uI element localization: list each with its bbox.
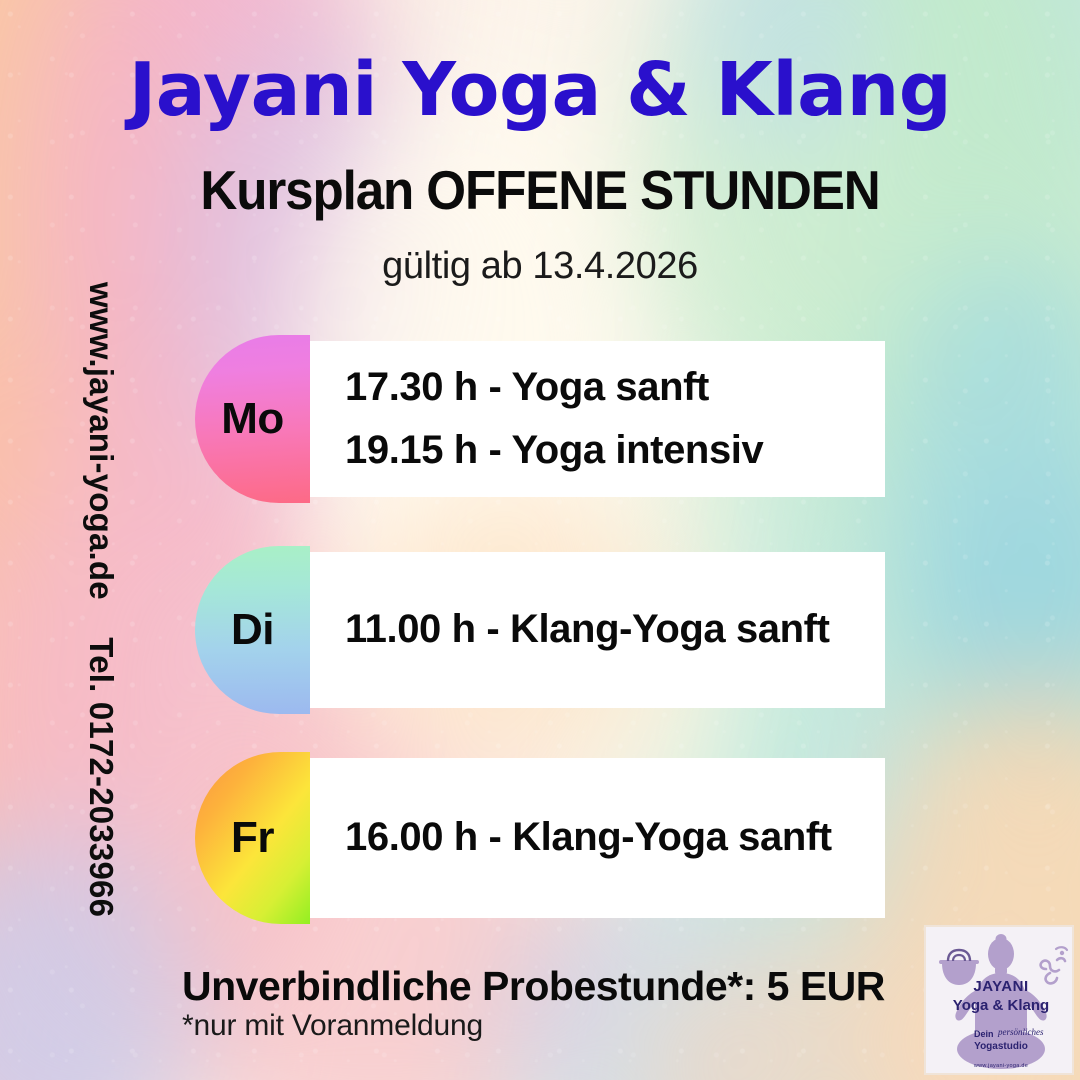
class-slot: 11.00 h - Klang-Yoga sanft [345,598,885,661]
schedule-row-di: 11.00 h - Klang-Yoga sanft Di [195,546,310,714]
logo-slogan-2: Yogastudio [974,1041,1028,1052]
day-label: Di [231,608,274,652]
website-vertical-text: www.jayani-yoga.de Tel. 0172-2033966 [82,282,120,917]
logo-url: www.jayani-yoga.de [973,1063,1028,1069]
poster-subtitle: Kursplan OFFENE STUNDEN [38,163,1042,218]
schedule-card-di: 11.00 h - Klang-Yoga sanft [305,552,885,708]
logo-slogan-1: Dein [974,1029,994,1039]
logo-artwork: JAYANI Yoga & Klang Dein persönliches Yo… [926,927,1074,1075]
vertical-contact-block: www.jayani-yoga.de Tel. 0172-2033966 [82,282,128,982]
day-badge-mo: Mo [195,335,310,503]
class-slot: 17.30 h - Yoga sanft [345,356,885,419]
validity-date: gültig ab 13.4.2026 [0,247,1080,285]
class-slot: 19.15 h - Yoga intensiv [345,419,885,482]
day-badge-di: Di [195,546,310,714]
logo-slogan-script: persönliches [997,1027,1044,1037]
schedule-row-fr: 16.00 h - Klang-Yoga sanft Fr [195,752,310,924]
day-label: Fr [231,816,274,860]
schedule-row-mo: 17.30 h - Yoga sanft 19.15 h - Yoga inte… [195,335,310,503]
day-label: Mo [221,397,284,441]
schedule-card-fr: 16.00 h - Klang-Yoga sanft [305,758,885,918]
poster-content: Jayani Yoga & Klang Kursplan OFFENE STUN… [0,0,1080,1080]
day-badge-fr: Fr [195,752,310,924]
studio-logo: JAYANI Yoga & Klang Dein persönliches Yo… [924,925,1074,1075]
website-label: www.jayani-yoga.de [83,282,120,600]
poster-canvas: Jayani Yoga & Klang Kursplan OFFENE STUN… [0,0,1080,1080]
trial-note-text: *nur mit Voranmeldung [182,1009,483,1043]
logo-brand: JAYANI [973,978,1028,995]
phone-label: Tel. 0172-2033966 [83,637,120,917]
studio-title: Jayani Yoga & Klang [0,53,1080,127]
trial-price-text: Unverbindliche Probestunde*: 5 EUR [182,963,885,1010]
schedule-card-mo: 17.30 h - Yoga sanft 19.15 h - Yoga inte… [305,341,885,497]
logo-tagline: Yoga & Klang [953,997,1049,1014]
class-slot: 16.00 h - Klang-Yoga sanft [345,806,885,869]
